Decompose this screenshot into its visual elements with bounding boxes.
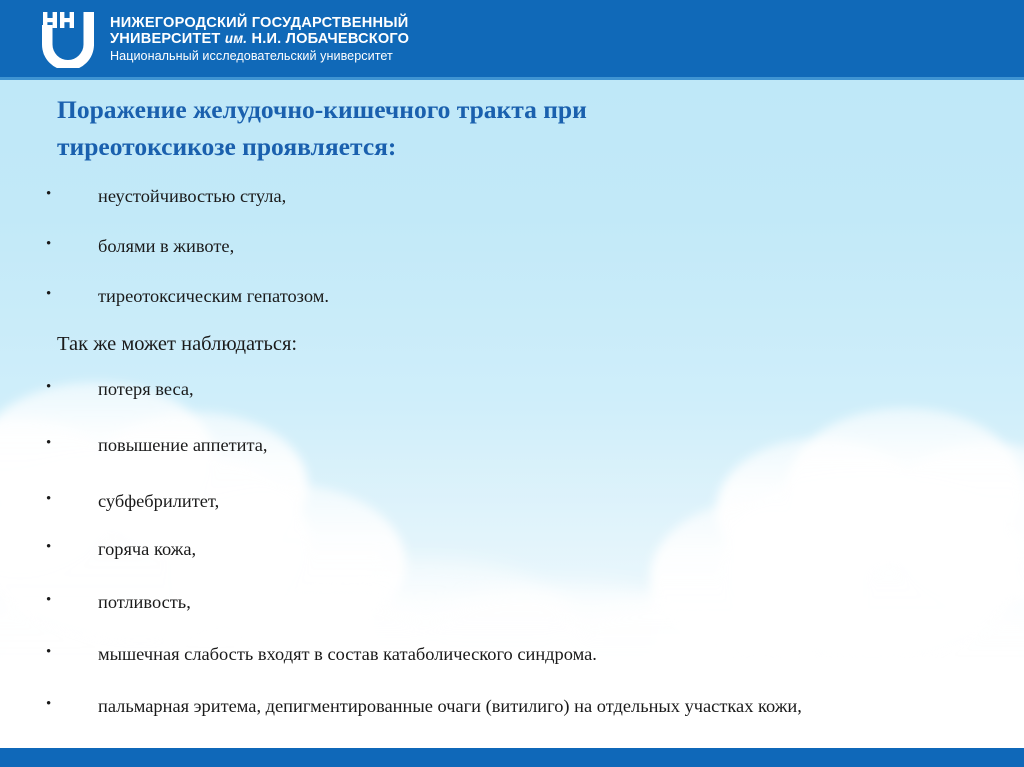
header-underline (0, 77, 1024, 80)
bullet-icon: • (46, 640, 60, 660)
university-name-line3: Национальный исследовательский университ… (110, 49, 409, 63)
slide-body-content: •неустойчивостью стула,•болями в животе,… (0, 182, 1024, 767)
slide-title-line2: тиреотоксикозе проявляется: (57, 129, 937, 166)
bullet-icon: • (46, 535, 60, 555)
university-name-text: НИЖЕГОРОДСКИЙ ГОСУДАРСТВЕННЫЙ УНИВЕРСИТЕ… (110, 13, 409, 63)
list-item-text: мышечная слабость входят в состав катабо… (60, 640, 1024, 670)
body-paragraph: Так же может наблюдаться: (0, 331, 1024, 359)
list-item: •горяча кожа, (0, 535, 1024, 565)
bullet-icon: • (46, 431, 60, 451)
university-name-line2-rest: Н.И. ЛОБАЧЕВСКОГО (251, 31, 409, 47)
list-item: •неустойчивостью стула, (0, 182, 1024, 212)
slide-title-line1: Поражение желудочно-кишечного тракта при (57, 92, 937, 129)
list-item-text: болями в животе, (60, 232, 1024, 262)
list-item: •болями в животе, (0, 232, 1024, 262)
list-item: •мышечная слабость входят в состав катаб… (0, 640, 1024, 670)
university-name-line1: НИЖЕГОРОДСКИЙ ГОСУДАРСТВЕННЫЙ (110, 15, 409, 31)
list-item-text: потливость, (60, 588, 1024, 618)
footer-bar (0, 748, 1024, 767)
bullet-icon: • (46, 588, 60, 608)
list-item: •потеря веса, (0, 375, 1024, 405)
slide-title: Поражение желудочно-кишечного тракта при… (57, 92, 937, 165)
body-paragraph-text: Так же может наблюдаться: (57, 331, 1024, 359)
bullet-icon: • (46, 182, 60, 202)
list-item-text: тиреотоксическим гепатозом. (60, 282, 1024, 312)
list-item-text: неустойчивостью стула, (60, 182, 1024, 212)
presentation-slide: НИЖЕГОРОДСКИЙ ГОСУДАРСТВЕННЫЙ УНИВЕРСИТЕ… (0, 0, 1024, 767)
bullet-icon: • (46, 487, 60, 507)
bullet-icon: • (46, 375, 60, 395)
list-item: •тиреотоксическим гепатозом. (0, 282, 1024, 312)
list-item-text: потеря веса, (60, 375, 1024, 405)
list-item: •субфебрилитет, (0, 487, 1024, 517)
bullet-icon: • (46, 692, 60, 712)
university-name-line2: УНИВЕРСИТЕТ им. Н.И. ЛОБАЧЕВСКОГО (110, 31, 409, 47)
list-item: •потливость, (0, 588, 1024, 618)
bullet-icon: • (46, 232, 60, 252)
bullet-icon: • (46, 282, 60, 302)
list-item: •пальмарная эритема, депигментированные … (0, 692, 1024, 722)
list-item-text: пальмарная эритема, депигментированные о… (60, 692, 1024, 722)
university-name-line2-main: УНИВЕРСИТЕТ (110, 31, 221, 47)
university-logo-block: НИЖЕГОРОДСКИЙ ГОСУДАРСТВЕННЫЙ УНИВЕРСИТЕ… (36, 8, 409, 68)
nngu-monogram-logo-icon (36, 8, 100, 68)
list-item: •повышение аппетита, (0, 431, 1024, 461)
university-name-line2-im: им. (225, 31, 247, 46)
list-item-text: повышение аппетита, (60, 431, 1024, 461)
list-item-text: горяча кожа, (60, 535, 1024, 565)
list-item-text: субфебрилитет, (60, 487, 1024, 517)
